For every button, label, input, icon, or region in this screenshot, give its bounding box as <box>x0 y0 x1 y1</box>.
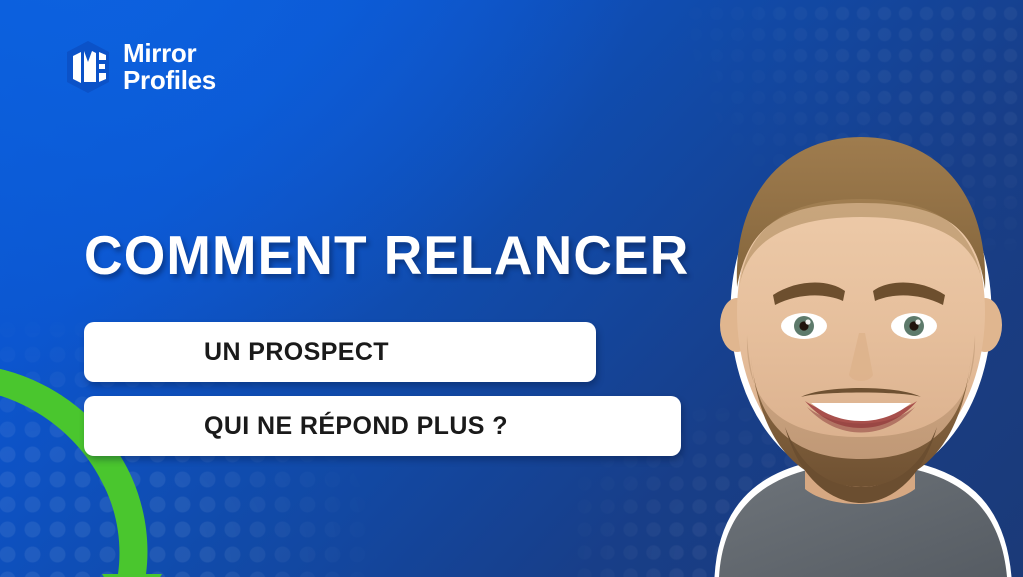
brand-logo[interactable]: Mirror Profiles <box>64 40 216 94</box>
brand-name-line2: Profiles <box>123 67 216 94</box>
dot-pattern-bottom-right <box>573 357 903 577</box>
dot-pattern-top-right <box>643 0 1023 300</box>
promo-banner: Mirror Profiles COMMENT RELANCER UN PROS… <box>0 0 1023 577</box>
brand-name-line1: Mirror <box>123 40 216 67</box>
subtitle-pill-2: QUI NE RÉPOND PLUS ? <box>84 396 681 456</box>
mirror-profiles-hexagon-icon <box>64 40 112 94</box>
page-title: COMMENT RELANCER <box>84 228 689 283</box>
presenter-portrait <box>689 107 1023 577</box>
brand-name: Mirror Profiles <box>123 40 216 94</box>
subtitle-pill-1: UN PROSPECT <box>84 322 596 382</box>
